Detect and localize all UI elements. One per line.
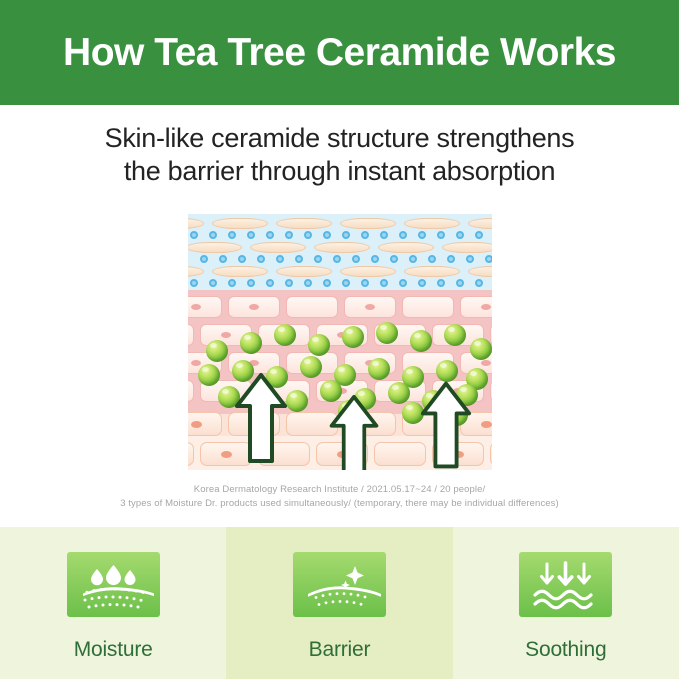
- cell-nucleus: [481, 360, 491, 366]
- moisture-dot: [323, 231, 331, 239]
- corneocyte-flake: [378, 242, 434, 253]
- caption-line-1: Korea Dermatology Research Institute / 2…: [0, 483, 679, 497]
- benefit-item-soothing[interactable]: Soothing: [453, 527, 679, 679]
- skin-cell: [188, 324, 194, 346]
- moisture-dot: [437, 279, 445, 287]
- header-banner: How Tea Tree Ceramide Works: [0, 0, 679, 105]
- cell-nucleus: [221, 332, 231, 338]
- moisture-dot: [437, 231, 445, 239]
- skin-cell: [188, 442, 194, 466]
- moisture-dot: [342, 231, 350, 239]
- moisture-dot: [304, 279, 312, 287]
- ceramide-sphere: [470, 338, 492, 360]
- moisture-dot: [399, 279, 407, 287]
- benefit-item-barrier[interactable]: Barrier: [226, 527, 452, 679]
- corneocyte-flake: [404, 266, 460, 277]
- moisture-dot: [418, 279, 426, 287]
- moisture-dot: [257, 255, 265, 263]
- moisture-dot: [342, 279, 350, 287]
- moisture-dot: [209, 231, 217, 239]
- ceramide-sphere: [368, 358, 390, 380]
- moisture-dot: [266, 231, 274, 239]
- benefit-item-moisture[interactable]: Moisture: [0, 527, 226, 679]
- corneocyte-flake: [404, 218, 460, 229]
- subtitle-line-2: the barrier through instant absorption: [0, 155, 679, 188]
- corneocyte-flake: [212, 266, 268, 277]
- moisture-dot: [266, 279, 274, 287]
- skin-cell: [188, 380, 194, 402]
- corneocyte-flake: [188, 242, 242, 253]
- corneocyte-flake: [442, 242, 492, 253]
- moisture-dot: [228, 279, 236, 287]
- ceramide-sphere: [286, 390, 308, 412]
- subtitle-line-1: Skin-like ceramide structure strengthens: [105, 123, 575, 153]
- ceramide-sphere: [300, 356, 322, 378]
- moisture-dot: [285, 231, 293, 239]
- moisture-dot: [361, 279, 369, 287]
- caption-line-2: 3 types of Moisture Dr. products used si…: [0, 497, 679, 511]
- ceramide-sphere: [444, 324, 466, 346]
- cell-nucleus: [191, 421, 202, 428]
- benefit-label-moisture: Moisture: [74, 638, 153, 662]
- corneocyte-flake: [276, 266, 332, 277]
- moisture-dot: [456, 231, 464, 239]
- corneocyte-flake: [250, 242, 306, 253]
- moisture-dot: [485, 255, 492, 263]
- ceramide-sphere: [436, 360, 458, 382]
- moisture-dot: [409, 255, 417, 263]
- moisture-dot: [285, 279, 293, 287]
- benefits-row: Moisture: [0, 527, 679, 679]
- skin-cell: [490, 380, 492, 402]
- moisture-dot: [475, 231, 483, 239]
- ceramide-sphere: [308, 334, 330, 356]
- benefit-label-barrier: Barrier: [309, 638, 371, 662]
- moisture-dot: [295, 255, 303, 263]
- moisture-dot: [380, 279, 388, 287]
- corneocyte-flake: [340, 218, 396, 229]
- cell-nucleus: [191, 304, 201, 310]
- absorption-arrow-icon: [328, 394, 380, 470]
- corneocyte-flake: [340, 266, 396, 277]
- moisture-dot: [390, 255, 398, 263]
- moisture-dot: [323, 279, 331, 287]
- ceramide-sphere: [198, 364, 220, 386]
- ceramide-sphere: [410, 330, 432, 352]
- moisture-dot: [418, 231, 426, 239]
- corneocyte-flake: [314, 242, 370, 253]
- study-caption: Korea Dermatology Research Institute / 2…: [0, 483, 679, 511]
- ceramide-sphere: [240, 332, 262, 354]
- moisture-dot: [371, 255, 379, 263]
- ceramide-sphere: [388, 382, 410, 404]
- moisture-dot: [456, 279, 464, 287]
- cell-nucleus: [249, 304, 259, 310]
- moisture-dot: [276, 255, 284, 263]
- moisture-dot: [247, 279, 255, 287]
- down-arrows-waves-icon: [519, 552, 612, 617]
- barrier-sparkle-icon: [293, 552, 386, 617]
- subtitle: Skin-like ceramide structure strengthens…: [0, 122, 679, 188]
- benefit-label-soothing: Soothing: [525, 638, 606, 662]
- absorption-arrow-icon: [420, 380, 472, 470]
- cell-nucleus: [221, 451, 232, 458]
- skin-cross-section-diagram: [188, 214, 492, 470]
- skin-cell: [374, 442, 426, 466]
- corneocyte-flake: [276, 218, 332, 229]
- moisture-dot: [352, 255, 360, 263]
- moisture-dot: [428, 255, 436, 263]
- cell-nucleus: [481, 421, 492, 428]
- page-title: How Tea Tree Ceramide Works: [63, 33, 616, 72]
- cell-nucleus: [365, 304, 375, 310]
- skin-cell: [286, 296, 338, 318]
- ceramide-sphere: [206, 340, 228, 362]
- moisture-dot: [219, 255, 227, 263]
- moisture-dot: [475, 279, 483, 287]
- moisture-dot: [228, 231, 236, 239]
- moisture-dot: [190, 231, 198, 239]
- moisture-dot: [361, 231, 369, 239]
- moisture-dot: [333, 255, 341, 263]
- absorption-arrow-icon: [234, 372, 288, 469]
- corneocyte-flake: [212, 218, 268, 229]
- cell-nucleus: [191, 360, 201, 366]
- moisture-dot: [466, 255, 474, 263]
- moisture-dot: [399, 231, 407, 239]
- moisture-dot: [200, 255, 208, 263]
- moisture-dot: [314, 255, 322, 263]
- skin-cell: [402, 296, 454, 318]
- infographic-page: How Tea Tree Ceramide Works Skin-like ce…: [0, 0, 679, 679]
- moisture-dot: [238, 255, 246, 263]
- moisture-dot: [190, 279, 198, 287]
- moisture-dot: [447, 255, 455, 263]
- moisture-dot: [380, 231, 388, 239]
- ceramide-sphere: [274, 324, 296, 346]
- moisture-dot: [304, 231, 312, 239]
- moisture-dot: [247, 231, 255, 239]
- cell-nucleus: [481, 304, 491, 310]
- water-droplets-icon: [67, 552, 160, 617]
- skin-cell: [490, 442, 492, 466]
- ceramide-sphere: [342, 326, 364, 348]
- moisture-dot: [209, 279, 217, 287]
- ceramide-sphere: [376, 322, 398, 344]
